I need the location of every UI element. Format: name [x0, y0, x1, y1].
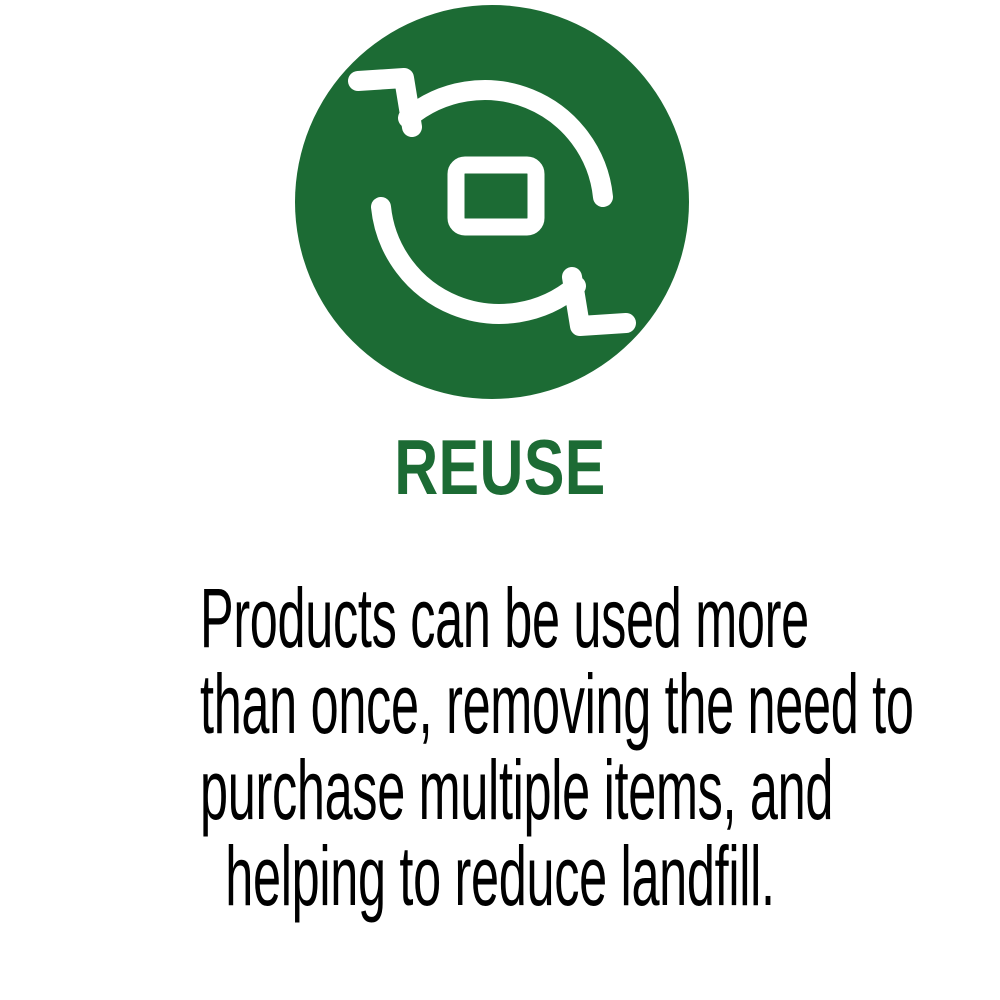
- body-line: than once, removing the need to: [200, 661, 800, 747]
- reuse-cycle-icon: [295, 5, 689, 399]
- body-line: purchase multiple items, and: [200, 747, 800, 833]
- body-line: Products can be used more: [200, 575, 800, 661]
- body-line: helping to reduce landfill.: [200, 833, 800, 919]
- reuse-info-card: REUSE Products can be used more than onc…: [0, 0, 1000, 1000]
- page-title: REUSE: [110, 428, 890, 506]
- body-paragraph: Products can be used more than once, rem…: [0, 575, 1000, 919]
- icon-badge-circle: [295, 5, 689, 399]
